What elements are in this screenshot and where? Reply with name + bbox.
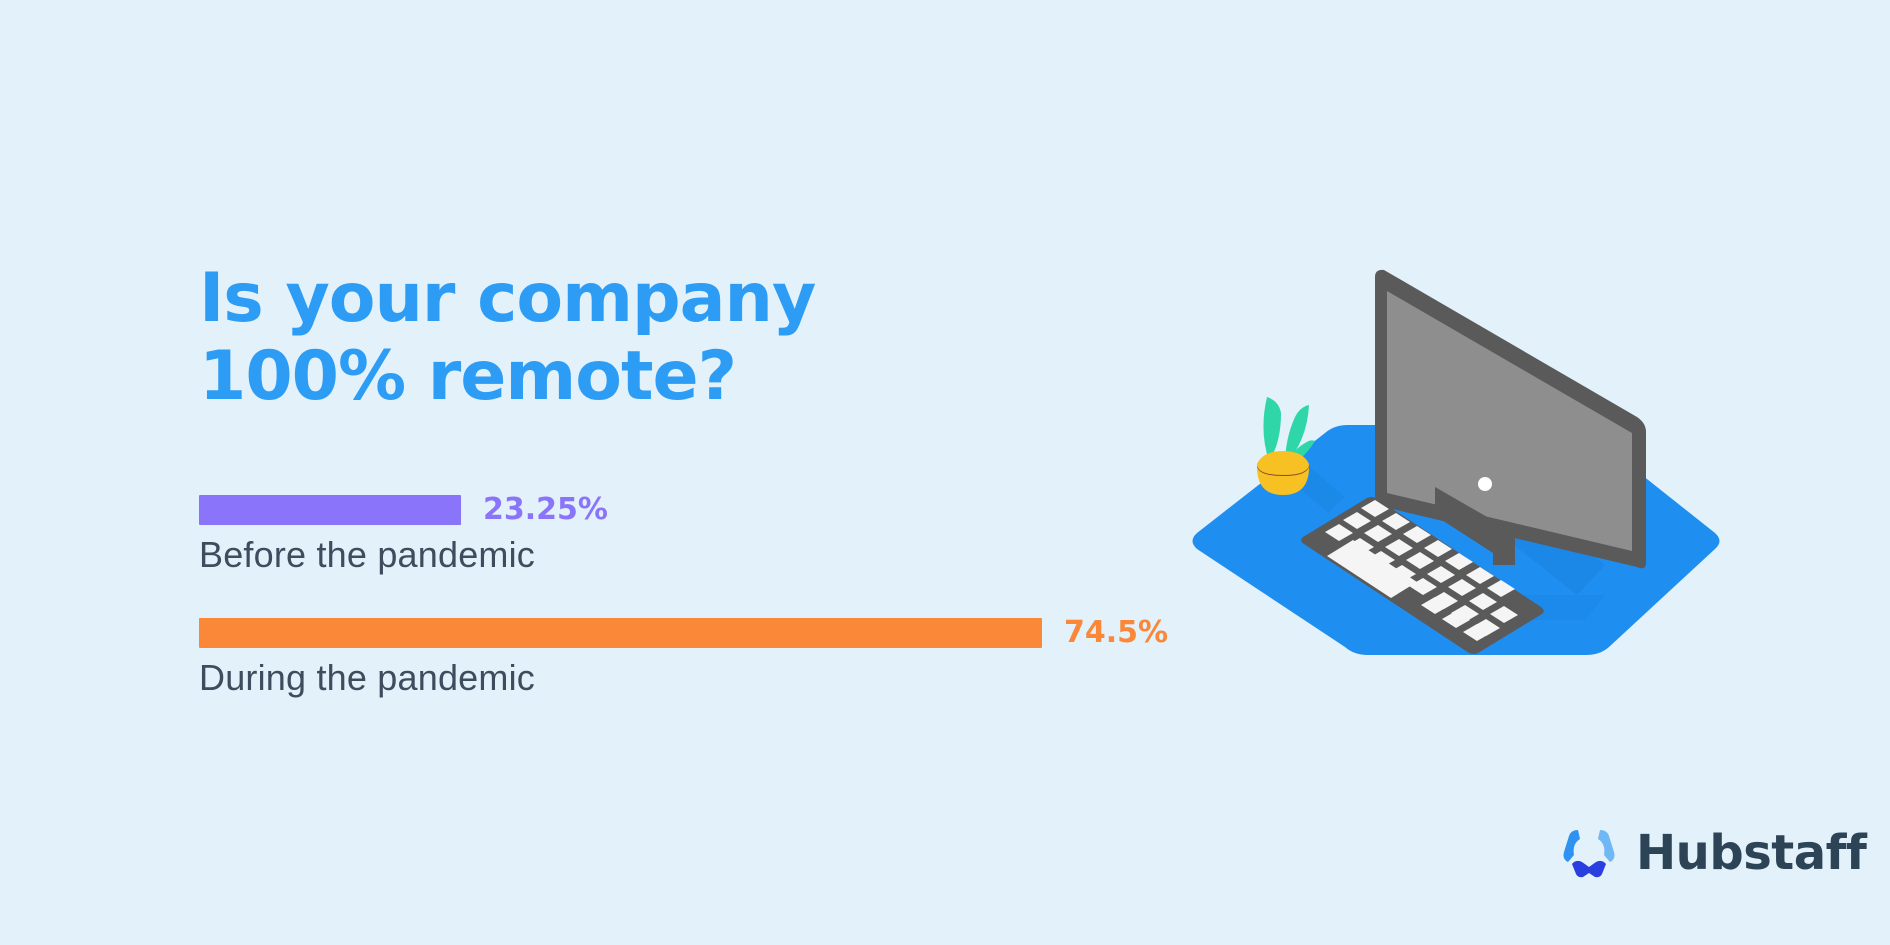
chart-row-during: 74.5% During the pandemic xyxy=(199,618,1299,699)
title-line-1: Is your company xyxy=(199,260,919,338)
isometric-desk-illustration xyxy=(1185,265,1725,695)
page-title: Is your company 100% remote? xyxy=(199,260,919,416)
chart-row-before: 23.25% Before the pandemic xyxy=(199,495,1299,576)
bar-before-the-pandemic xyxy=(199,495,461,525)
bar-value-before: 23.25% xyxy=(483,495,608,525)
bar-line-before: 23.25% xyxy=(199,495,1299,525)
hubstaff-wordmark: Hubstaff xyxy=(1636,829,1866,877)
monitor-indicator-dot xyxy=(1478,477,1492,491)
bar-line-during: 74.5% xyxy=(199,618,1299,648)
bar-chart: 23.25% Before the pandemic 74.5% During … xyxy=(199,495,1299,741)
title-line-2: 100% remote? xyxy=(199,338,919,416)
bar-value-during: 74.5% xyxy=(1064,618,1168,648)
potted-plant-icon xyxy=(1257,397,1315,495)
infographic-canvas: Is your company 100% remote? 23.25% Befo… xyxy=(0,0,1890,945)
hubstaff-logo-mark-icon xyxy=(1558,822,1620,884)
bar-label-before: Before the pandemic xyxy=(199,534,1299,576)
bar-during-the-pandemic xyxy=(199,618,1042,648)
hubstaff-logo: Hubstaff xyxy=(1558,822,1866,884)
bar-label-during: During the pandemic xyxy=(199,657,1299,699)
